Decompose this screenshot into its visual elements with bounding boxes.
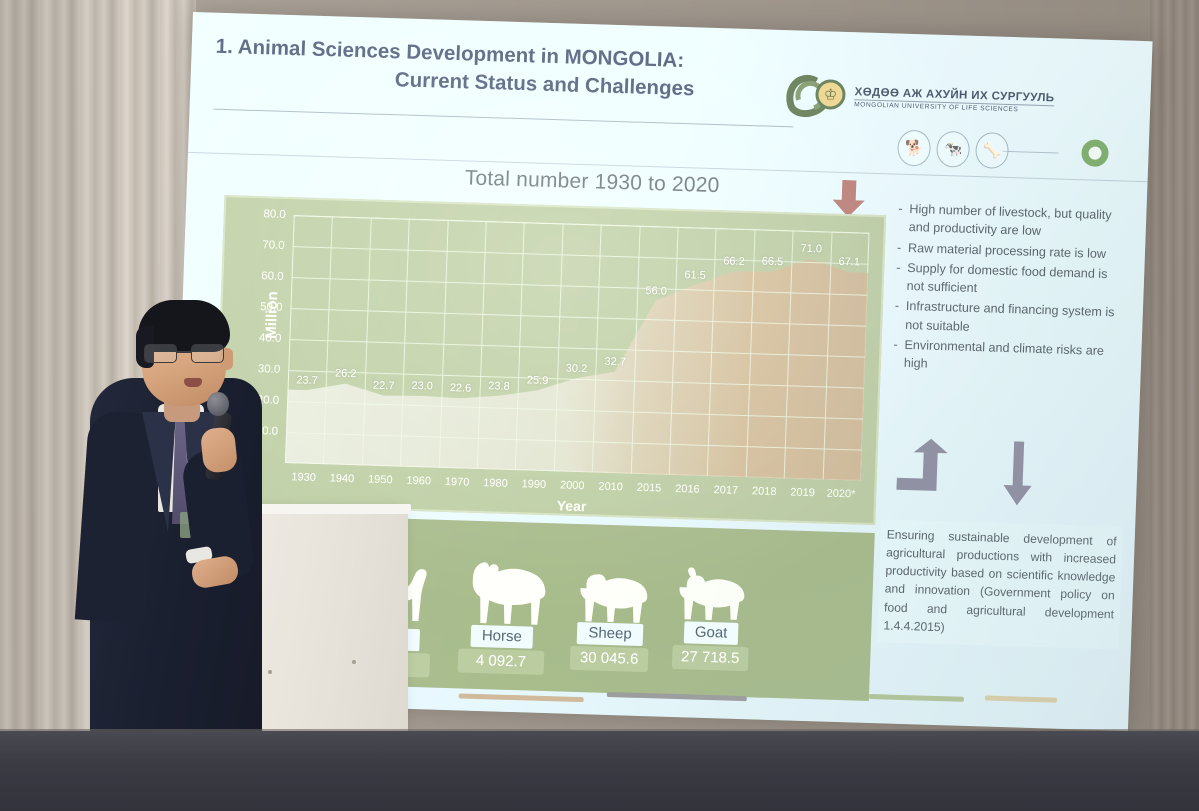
data-label: 22.6	[450, 382, 472, 395]
goat-icon	[674, 567, 752, 623]
header-icon-connector	[1003, 151, 1059, 154]
glasses-icon	[144, 344, 226, 364]
wall-panel-seam	[1150, 0, 1199, 760]
presenter-mouth	[184, 378, 202, 387]
horse-icon	[459, 556, 547, 627]
x-axis-tick: 2015	[637, 482, 662, 495]
room-floor	[0, 731, 1199, 811]
data-label: 56.0	[645, 285, 667, 298]
challenges-bullet-list: High number of livestock, but quality an…	[893, 200, 1131, 381]
header-icon-group: 🐕 🐄 🦴	[897, 130, 1009, 169]
bottom-bar-4	[985, 695, 1057, 702]
x-axis-tick: 1990	[521, 478, 546, 491]
animal-horse: Horse 4 092.7	[458, 556, 548, 675]
horse-emblem-icon: ♔	[815, 79, 846, 110]
conclusion-textbox: Ensuring sustainable development of agri…	[877, 519, 1123, 649]
x-axis-tick: 1980	[483, 477, 508, 490]
presentation-scene: 1. Animal Sciences Development in MONGOL…	[0, 0, 1199, 811]
data-label: 61.5	[684, 269, 706, 282]
lectern-screw	[352, 660, 356, 664]
x-axis-tick: 1960	[406, 475, 431, 488]
bones-dna-circle-icon: 🦴	[975, 132, 1009, 169]
livestock-area-chart: Million Year 10.020.030.040.050.060.070.…	[213, 195, 886, 525]
x-axis-tick: 1970	[445, 476, 470, 489]
data-label: 32.7	[604, 356, 626, 369]
logo-emblem-icon: ♔	[785, 72, 847, 120]
data-label: 66.2	[723, 255, 745, 268]
x-axis-tick: 2018	[752, 485, 777, 498]
data-label: 66.5	[762, 256, 784, 269]
y-axis-tick: 80.0	[263, 208, 286, 221]
bullet-item: Supply for domestic food demand is not s…	[895, 258, 1128, 302]
bullet-item: Infrastructure and financing system is n…	[894, 297, 1127, 341]
y-axis-tick: 70.0	[262, 239, 285, 252]
animal-name: Horse	[470, 625, 533, 649]
bottom-bar-3	[869, 694, 964, 702]
x-axis-tick: 2019	[790, 486, 815, 499]
chart-plot-area: Year 10.020.030.040.050.060.070.080.0193…	[285, 215, 870, 480]
data-label: 30.2	[566, 362, 588, 375]
data-label: 23.8	[488, 380, 510, 393]
bullet-item: Environmental and climate risks are high	[893, 335, 1126, 379]
chart-title: Total number 1930 to 2020	[392, 164, 793, 200]
data-label: 26.2	[335, 368, 357, 381]
microphone-icon	[207, 392, 229, 416]
animal-sheep: Sheep 30 045.6	[570, 564, 652, 672]
cow-head-circle-icon: 🐄	[936, 131, 970, 168]
y-axis-tick: 60.0	[261, 270, 284, 283]
x-axis-tick: 1930	[291, 471, 316, 484]
dog-circle-icon: 🐕	[897, 130, 931, 167]
data-label: 22.7	[373, 380, 395, 393]
animal-goat: Goat 27 718.5	[672, 567, 752, 671]
sheep-icon	[571, 564, 651, 624]
down-arrow-icon	[1002, 441, 1034, 508]
presenter-hand-holding-mic	[200, 426, 238, 473]
x-axis-tick: 2020*	[826, 488, 855, 501]
bullet-item: High number of livestock, but quality an…	[897, 200, 1130, 244]
x-axis-tick: 2000	[560, 479, 585, 492]
x-axis-tick: 1940	[330, 472, 355, 485]
data-label: 71.0	[800, 243, 822, 256]
animal-value: 4 092.7	[458, 648, 545, 675]
bottom-bar-1	[459, 693, 584, 702]
title-underline	[214, 109, 794, 128]
logo-text: ХӨДӨӨ АЖ АХУЙН ИХ СУРГУУЛЬ MONGOLIAN UNI…	[854, 86, 1055, 114]
x-axis-tick: 2016	[675, 483, 700, 496]
data-label: 23.0	[411, 380, 433, 393]
x-axis-tick: 2010	[598, 481, 623, 494]
green-ring-icon	[1081, 139, 1109, 167]
x-axis-tick: 2017	[713, 484, 738, 497]
data-label: 23.7	[296, 374, 318, 387]
slide-title: 1. Animal Sciences Development in MONGOL…	[214, 33, 816, 107]
presenter-lapel-left	[142, 412, 176, 532]
x-axis-tick: 1950	[368, 474, 393, 487]
data-label: 25.9	[527, 374, 549, 387]
animal-value: 27 718.5	[672, 645, 749, 671]
data-label: 67.1	[838, 256, 860, 269]
university-logo: ♔ ХӨДӨӨ АЖ АХУЙН ИХ СУРГУУЛЬ MONGOLIAN U…	[785, 72, 1055, 126]
animal-name: Sheep	[577, 622, 643, 646]
animal-value: 30 045.6	[570, 646, 649, 672]
animal-name: Goat	[683, 621, 738, 645]
bent-up-arrow-icon	[896, 438, 950, 506]
